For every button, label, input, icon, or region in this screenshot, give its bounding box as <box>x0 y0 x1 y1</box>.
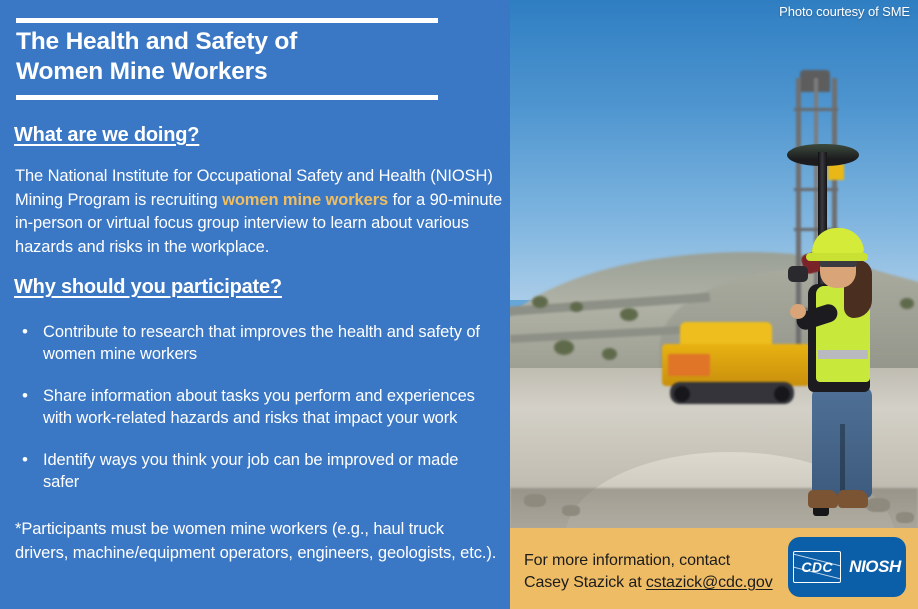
contact-line-1: For more information, contact <box>524 550 773 572</box>
rig-yellow-marker <box>828 164 844 180</box>
worker-glove <box>788 266 808 282</box>
worker-hand <box>790 304 806 319</box>
vegetation <box>554 340 574 355</box>
page-title-line-2: Women Mine Workers <box>16 57 476 87</box>
vegetation <box>532 296 548 308</box>
cdc-logo-icon: CDC <box>793 551 841 583</box>
intro-paragraph: The National Institute for Occupational … <box>15 165 503 259</box>
rig-crossbeam <box>794 108 838 111</box>
contact-footer: For more information, contact Casey Staz… <box>510 528 918 609</box>
title-rule-bottom <box>16 95 438 100</box>
worker-boot <box>838 490 868 508</box>
worker-vest-reflective-stripe <box>818 350 868 359</box>
woman-mine-worker <box>782 228 902 528</box>
contact-line-2: Casey Stazick at cstazick@cdc.gov <box>524 572 773 594</box>
intro-highlight: women mine workers <box>222 191 388 209</box>
machine-orange-panel <box>668 354 710 376</box>
photo-credit: Photo courtesy of SME <box>779 4 910 19</box>
page-title: The Health and Safety of Women Mine Work… <box>16 27 476 87</box>
eligibility-footnote: *Participants must be women mine workers… <box>15 518 500 565</box>
vegetation <box>620 308 638 321</box>
contact-name-prefix: Casey Stazick at <box>524 574 646 591</box>
worker-boot <box>808 490 838 508</box>
niosh-logo-text: NIOSH <box>849 557 901 577</box>
worker-leg-seam <box>840 424 845 498</box>
contact-email-link[interactable]: cstazick@cdc.gov <box>646 574 773 591</box>
rock <box>562 505 580 516</box>
rig-crossbeam <box>794 188 838 191</box>
benefits-list: Contribute to research that improves the… <box>16 322 496 514</box>
rock <box>524 494 546 507</box>
vegetation <box>900 298 914 309</box>
list-item: Share information about tasks you perfor… <box>16 386 496 429</box>
poster-root: The Health and Safety of Women Mine Work… <box>0 0 918 609</box>
page-title-line-1: The Health and Safety of <box>16 27 476 57</box>
left-content-panel: The Health and Safety of Women Mine Work… <box>0 0 510 609</box>
list-item: Identify ways you think your job can be … <box>16 450 496 493</box>
vegetation <box>570 302 583 312</box>
section-heading-why-participate: Why should you participate? <box>14 276 282 299</box>
worker-hard-hat-brim <box>806 253 868 261</box>
worker-safety-glasses <box>819 260 857 267</box>
list-item: Contribute to research that improves the… <box>16 322 496 365</box>
cdc-niosh-logo: CDC NIOSH <box>788 537 906 597</box>
mine-worker-photo: Photo courtesy of SME <box>510 0 918 528</box>
title-rule-top <box>16 18 438 23</box>
vegetation <box>602 348 617 360</box>
cdc-logo-text: CDC <box>801 559 833 575</box>
section-heading-what-are-we-doing: What are we doing? <box>14 124 199 147</box>
contact-text: For more information, contact Casey Staz… <box>524 550 773 594</box>
machine-wheel <box>674 386 690 402</box>
